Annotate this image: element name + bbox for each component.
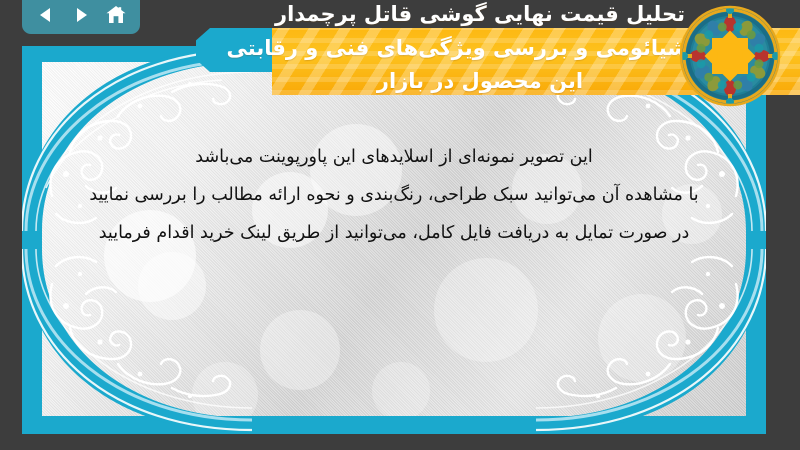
home-button[interactable]	[103, 2, 129, 28]
triangle-left-icon	[36, 5, 56, 25]
home-icon	[105, 4, 127, 26]
navigation-bar	[22, 0, 140, 34]
body-line-2: با مشاهده آن می‌توانید سبک طراحی، رنگ‌بن…	[62, 176, 726, 214]
back-button[interactable]	[33, 2, 59, 28]
slide-canvas: این تصویر نمونه‌ای از اسلایدهای این پاور…	[22, 46, 766, 434]
slide-body-text: این تصویر نمونه‌ای از اسلایدهای این پاور…	[62, 138, 726, 252]
body-line-1: این تصویر نمونه‌ای از اسلایدهای این پاور…	[62, 138, 726, 176]
triangle-right-icon	[71, 5, 91, 25]
bokeh-circle	[598, 294, 686, 382]
bokeh-circle	[372, 362, 430, 416]
slide-viewer: این تصویر نمونه‌ای از اسلایدهای این پاور…	[0, 0, 800, 450]
bokeh-circle	[260, 310, 340, 390]
body-line-3: در صورت تمایل به دریافت فایل کامل، می‌تو…	[62, 214, 726, 252]
bokeh-circle	[138, 252, 206, 320]
page-title: تحلیل قیمت نهایی گوشی قاتل پرچمدار	[272, 0, 688, 32]
forward-button[interactable]	[68, 2, 94, 28]
bokeh-circle	[434, 258, 538, 362]
